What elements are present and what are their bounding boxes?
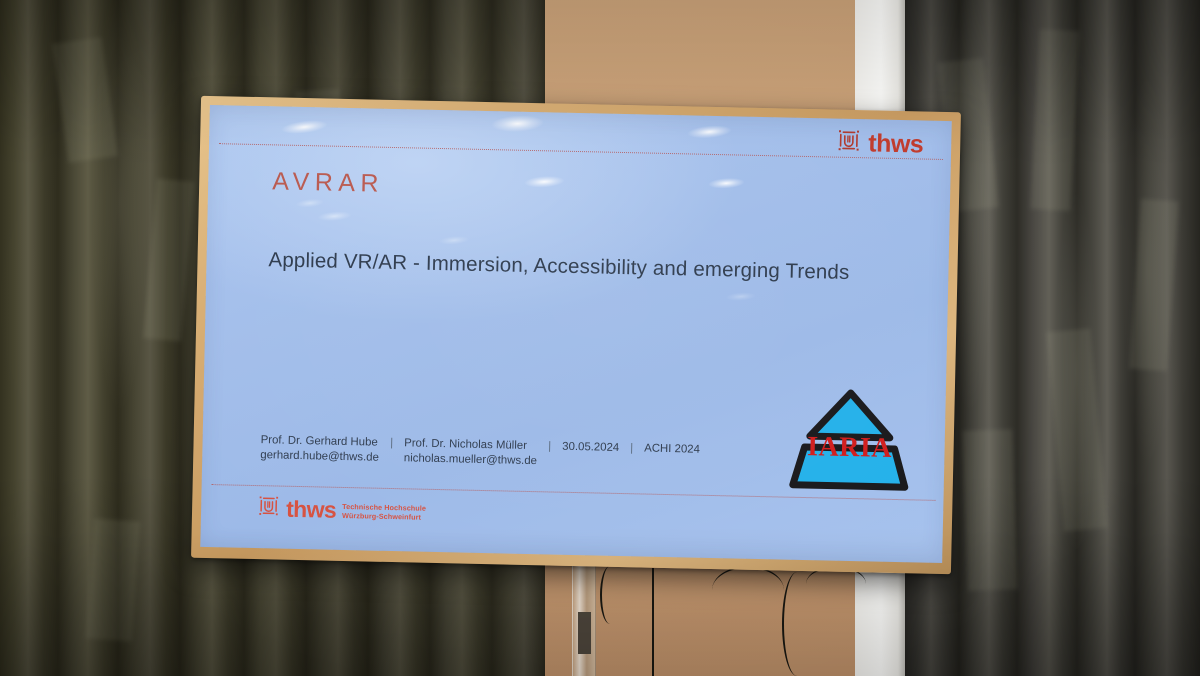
thws-wordmark: thws [868,131,923,157]
footer-logo: thws Technische Hochschule Würzburg-Schw… [257,494,426,526]
iaria-logo: IARIA [786,386,914,495]
presentation-date: 30.05.2024 [562,440,619,456]
author-2-email: nicholas.mueller@thws.de [404,451,537,469]
thws-tagline-line2: Würzburg-Schweinfurt [342,511,421,522]
divider-top [219,143,943,160]
event-name: ACHI 2024 [644,442,700,458]
slide-kicker: AVRAR [272,167,384,198]
credits-separator-2: | [537,439,562,455]
author-2: Prof. Dr. Nicholas Müller nicholas.muell… [404,436,538,469]
screenshot-root: thws AVRAR Applied VR/AR - Immersion, Ac… [0,0,1200,676]
credits-separator-3: | [619,441,644,457]
tv-stand-block [578,612,591,654]
tv-screen: thws AVRAR Applied VR/AR - Immersion, Ac… [200,105,951,563]
slide-subtitle: Applied VR/AR - Immersion, Accessibility… [268,248,849,285]
author-2-name: Prof. Dr. Nicholas Müller [404,437,527,452]
author-1: Prof. Dr. Gerhard Hube gerhard.hube@thws… [260,433,379,466]
thws-fingerprint-icon-footer [257,494,281,522]
television: thws AVRAR Applied VR/AR - Immersion, Ac… [191,96,961,574]
presentation-slide: thws AVRAR Applied VR/AR - Immersion, Ac… [200,105,951,563]
thws-fingerprint-icon [836,128,862,159]
author-1-email: gerhard.hube@thws.de [260,448,379,466]
header-logo: thws [836,128,924,160]
thws-tagline: Technische Hochschule Würzburg-Schweinfu… [342,500,426,522]
credits-separator-1: | [379,436,404,452]
iaria-wordmark: IARIA [786,433,913,464]
credits-row: Prof. Dr. Gerhard Hube gerhard.hube@thws… [260,433,700,473]
tv-bezel: thws AVRAR Applied VR/AR - Immersion, Ac… [191,96,961,574]
thws-wordmark-footer: thws [286,497,336,521]
author-1-name: Prof. Dr. Gerhard Hube [261,434,378,449]
